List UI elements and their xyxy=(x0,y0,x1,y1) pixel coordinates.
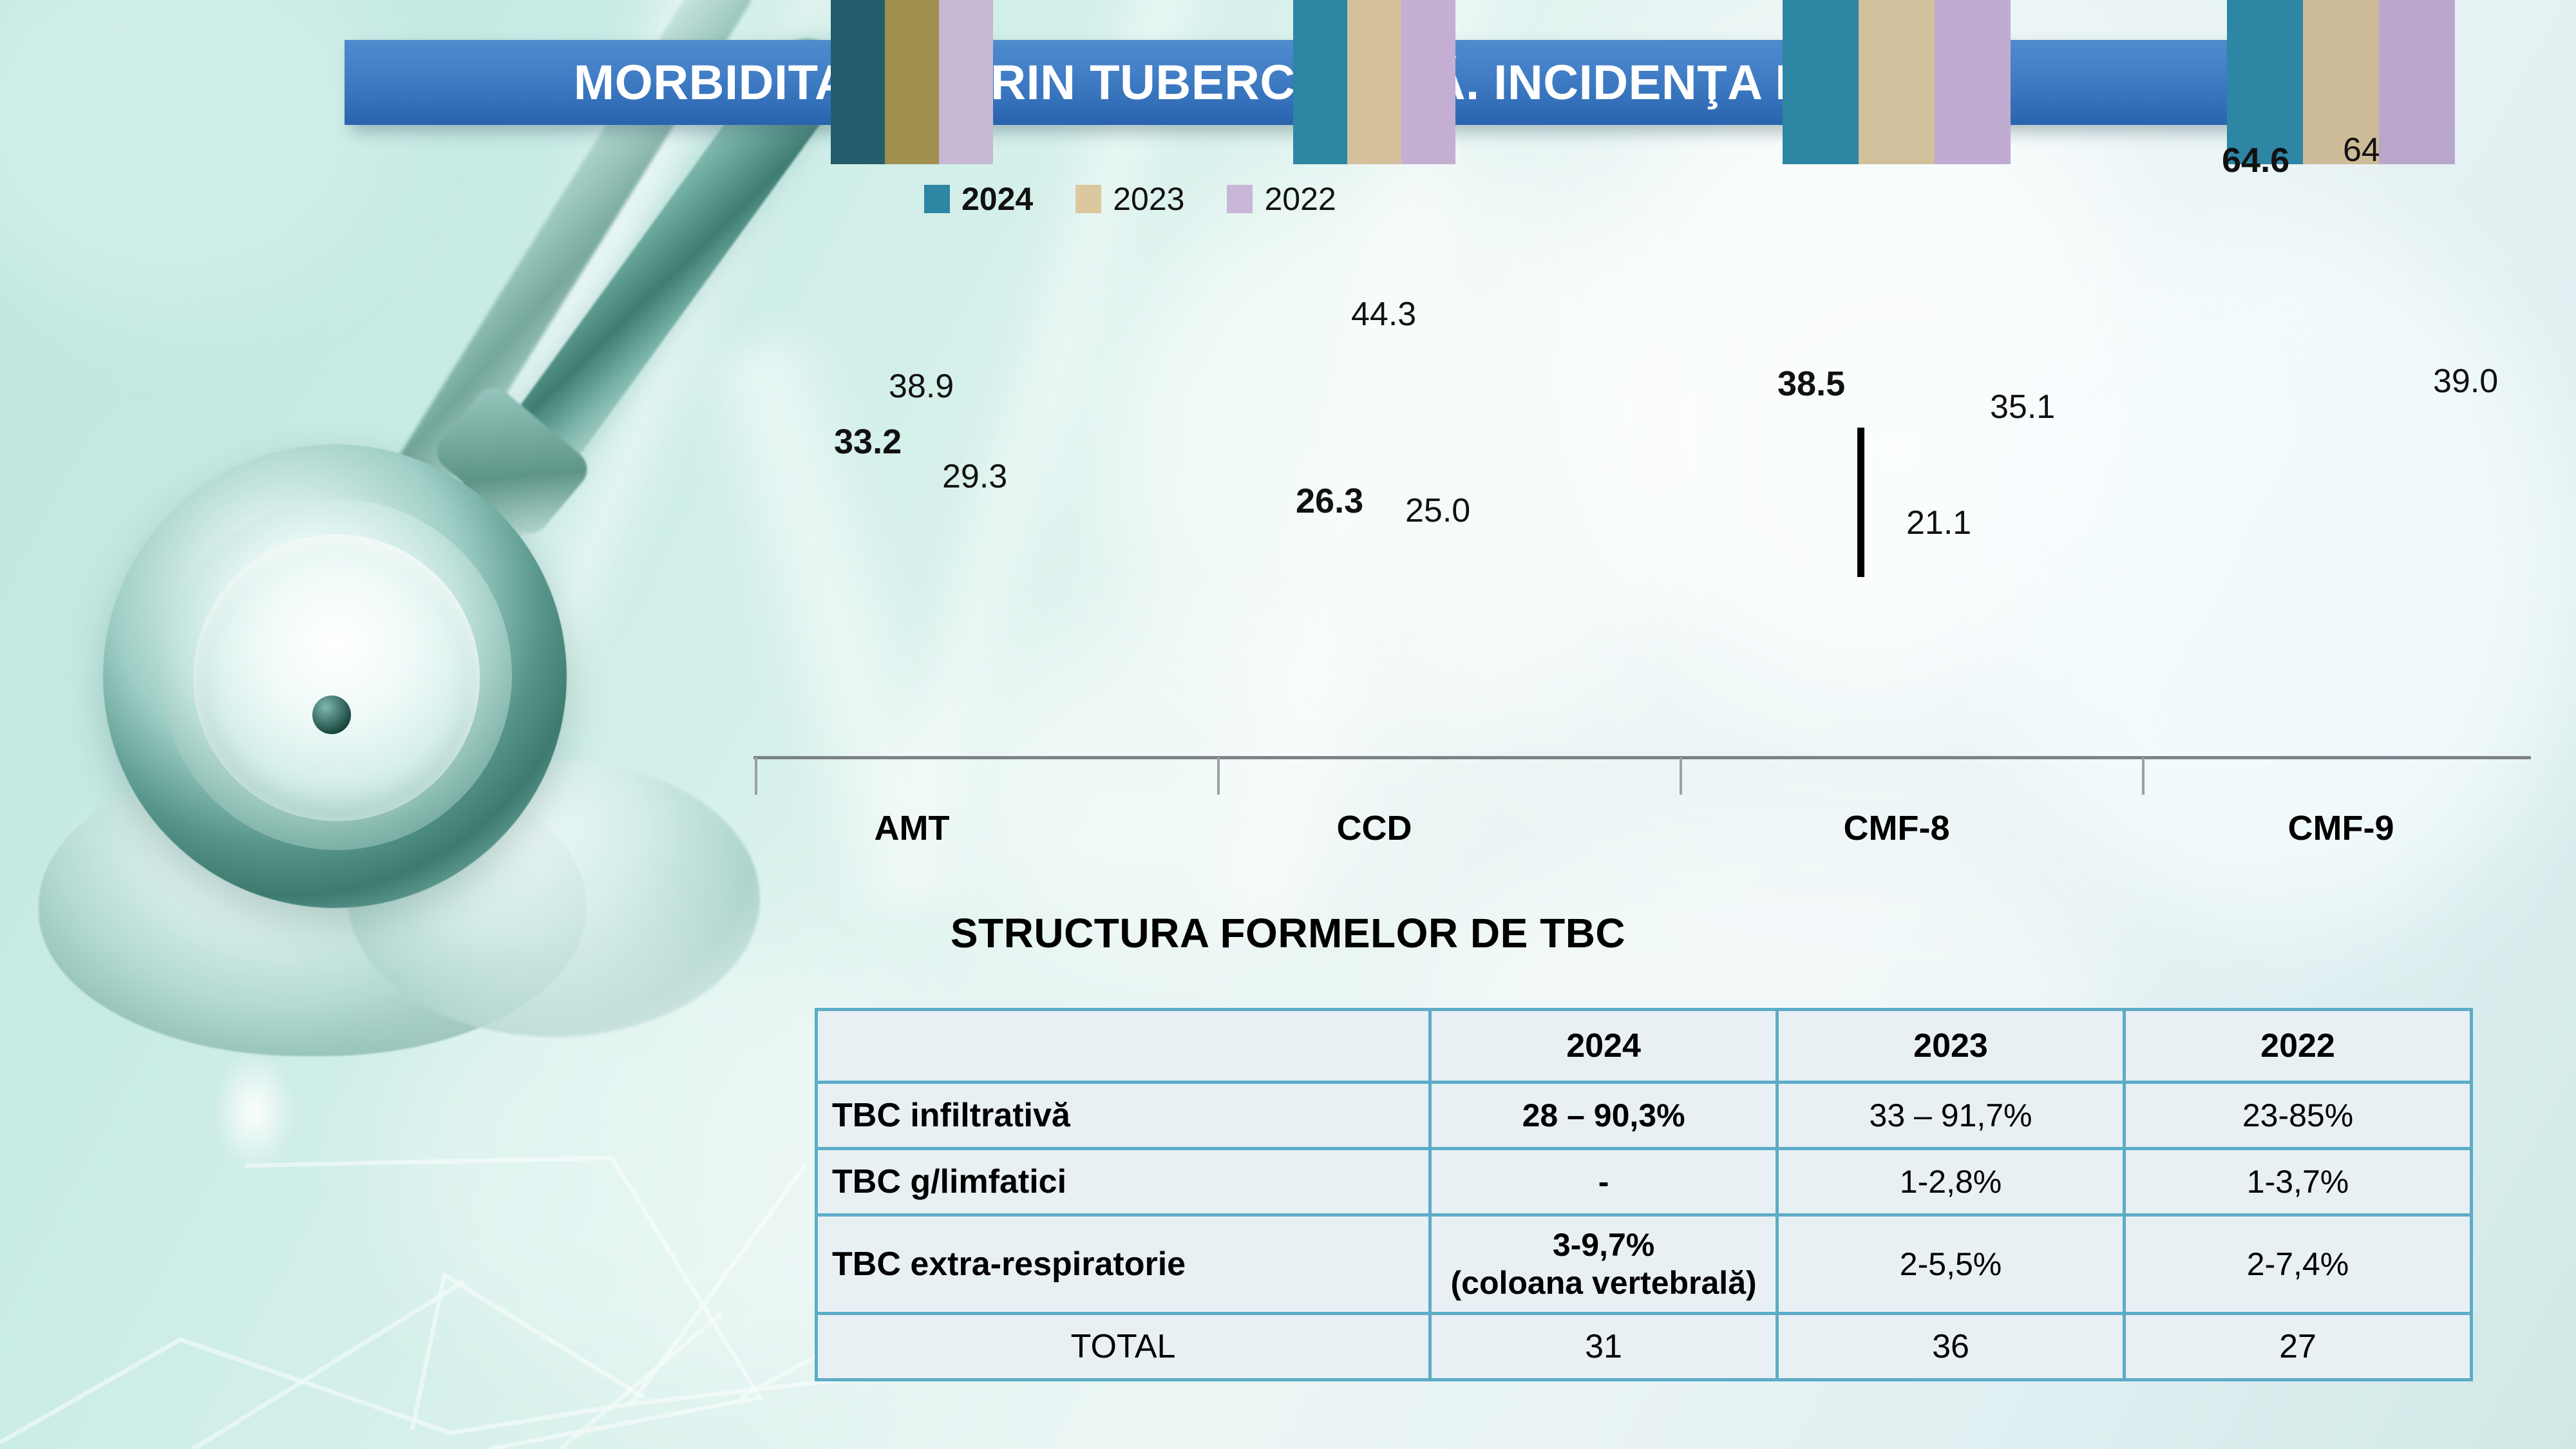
cell-glimfatici-2024: - xyxy=(1430,1149,1777,1215)
row-label-tbc-infiltrativa: TBC infiltrativă xyxy=(817,1083,1430,1149)
legend-swatch-2023 xyxy=(1075,185,1101,213)
cmf8-marker-line xyxy=(1857,428,1864,577)
table-row-total: TOTAL 31 36 27 xyxy=(817,1314,2472,1380)
legend-swatch-2022 xyxy=(1227,185,1253,213)
category-label-ccd: CCD xyxy=(1291,808,1458,848)
chart-legend: 2024 2023 2022 xyxy=(924,180,1379,218)
bar-2024-amt[interactable] xyxy=(831,0,885,164)
tbc-forms-table-wrapper: 2024 2023 2022 TBC infiltrativă 28 – 90,… xyxy=(815,1008,2473,1381)
legend-swatch-2024 xyxy=(924,185,950,213)
bar-2024-cmf9[interactable] xyxy=(2227,0,2303,164)
legend-label-2022: 2022 xyxy=(1264,180,1336,218)
bar-value-2024-amt: 33.2 xyxy=(834,422,902,462)
bar-value-2023-cmf8: 21.1 xyxy=(1906,504,1971,542)
cell-infiltrativa-2024: 28 – 90,3% xyxy=(1430,1083,1777,1149)
bar-2022-cmf8[interactable] xyxy=(1935,0,2011,164)
row-label-tbc-glimfatici: TBC g/limfatici xyxy=(817,1149,1430,1215)
table-row: TBC infiltrativă 28 – 90,3% 33 – 91,7% 2… xyxy=(817,1083,2472,1149)
axis-tick xyxy=(2142,757,2145,795)
category-label-amt: AMT xyxy=(828,808,996,848)
cell-glimfatici-2023: 1-2,8% xyxy=(1777,1149,2125,1215)
cell-infiltrativa-2022: 23-85% xyxy=(2125,1083,2472,1149)
legend-item-2024[interactable]: 2024 xyxy=(924,180,1033,218)
bar-2024-cmf8[interactable] xyxy=(1783,0,1859,164)
bar-value-2024-cmf9: 64.6 xyxy=(2222,140,2289,180)
table-header-row: 2024 2023 2022 xyxy=(817,1010,2472,1083)
bar-2024-ccd[interactable] xyxy=(1293,0,1347,164)
category-label-cmf8: CMF-8 xyxy=(1781,808,2012,848)
header-cell-2023: 2023 xyxy=(1777,1010,2125,1083)
table-row: TBC g/limfatici - 1-2,8% 1-3,7% xyxy=(817,1149,2472,1215)
row-label-tbc-extra-respiratorie: TBC extra-respiratorie xyxy=(817,1215,1430,1314)
header-cell-blank xyxy=(817,1010,1430,1083)
bar-value-2022-cmf9: 39.0 xyxy=(2433,362,2498,401)
cell-extra-respiratorie-2024: 3-9,7% (coloana vertebrală) xyxy=(1430,1215,1777,1314)
axis-tick xyxy=(755,757,757,795)
bar-chart: 2024 2023 2022 33.2 38.9 29.3 AMT 26.3 4… xyxy=(0,0,2576,857)
header-cell-2024: 2024 xyxy=(1430,1010,1777,1083)
legend-label-2023: 2023 xyxy=(1113,180,1184,218)
row-label-total: TOTAL xyxy=(817,1314,1430,1380)
bar-value-2022-amt: 29.3 xyxy=(942,457,1007,496)
tbc-forms-table: 2024 2023 2022 TBC infiltrativă 28 – 90,… xyxy=(815,1008,2473,1381)
bar-2023-ccd[interactable] xyxy=(1347,0,1401,164)
bar-value-2023-ccd: 44.3 xyxy=(1351,295,1416,334)
bar-2023-amt[interactable] xyxy=(885,0,939,164)
cell-extra-respiratorie-2022: 2-7,4% xyxy=(2125,1215,2472,1314)
plot-area: 33.2 38.9 29.3 AMT 26.3 44.3 25.0 CCD 38… xyxy=(0,0,2576,857)
cell-total-2023: 36 xyxy=(1777,1314,2125,1380)
table-heading: STRUCTURA FORMELOR DE TBC xyxy=(0,909,2576,957)
bar-value-2024-ccd: 26.3 xyxy=(1296,481,1363,521)
cell-extra-respiratorie-2023: 2-5,5% xyxy=(1777,1215,2125,1314)
axis-tick xyxy=(1680,757,1682,795)
bar-value-2024-cmf8: 38.5 xyxy=(1777,364,1845,404)
legend-item-2022[interactable]: 2022 xyxy=(1227,180,1336,218)
bar-value-2022-cmf8: 35.1 xyxy=(1990,388,2055,426)
bar-2022-ccd[interactable] xyxy=(1401,0,1455,164)
cell-total-2022: 27 xyxy=(2125,1314,2472,1380)
bar-value-2022-ccd: 25.0 xyxy=(1405,491,1470,530)
axis-tick xyxy=(1217,757,1220,795)
bar-2023-cmf8[interactable] xyxy=(1859,0,1935,164)
bar-2022-amt[interactable] xyxy=(939,0,993,164)
cell-infiltrativa-2023: 33 – 91,7% xyxy=(1777,1083,2125,1149)
header-cell-2022: 2022 xyxy=(2125,1010,2472,1083)
bar-2022-cmf9[interactable] xyxy=(2379,0,2455,164)
legend-label-2024: 2024 xyxy=(961,180,1033,218)
x-axis-line xyxy=(753,756,2531,759)
cell-total-2024: 31 xyxy=(1430,1314,1777,1380)
category-label-cmf9: CMF-9 xyxy=(2225,808,2457,848)
legend-item-2023[interactable]: 2023 xyxy=(1075,180,1184,218)
bar-value-2023-amt: 38.9 xyxy=(889,367,954,406)
table-row: TBC extra-respiratorie 3-9,7% (coloana v… xyxy=(817,1215,2472,1314)
cell-glimfatici-2022: 1-3,7% xyxy=(2125,1149,2472,1215)
